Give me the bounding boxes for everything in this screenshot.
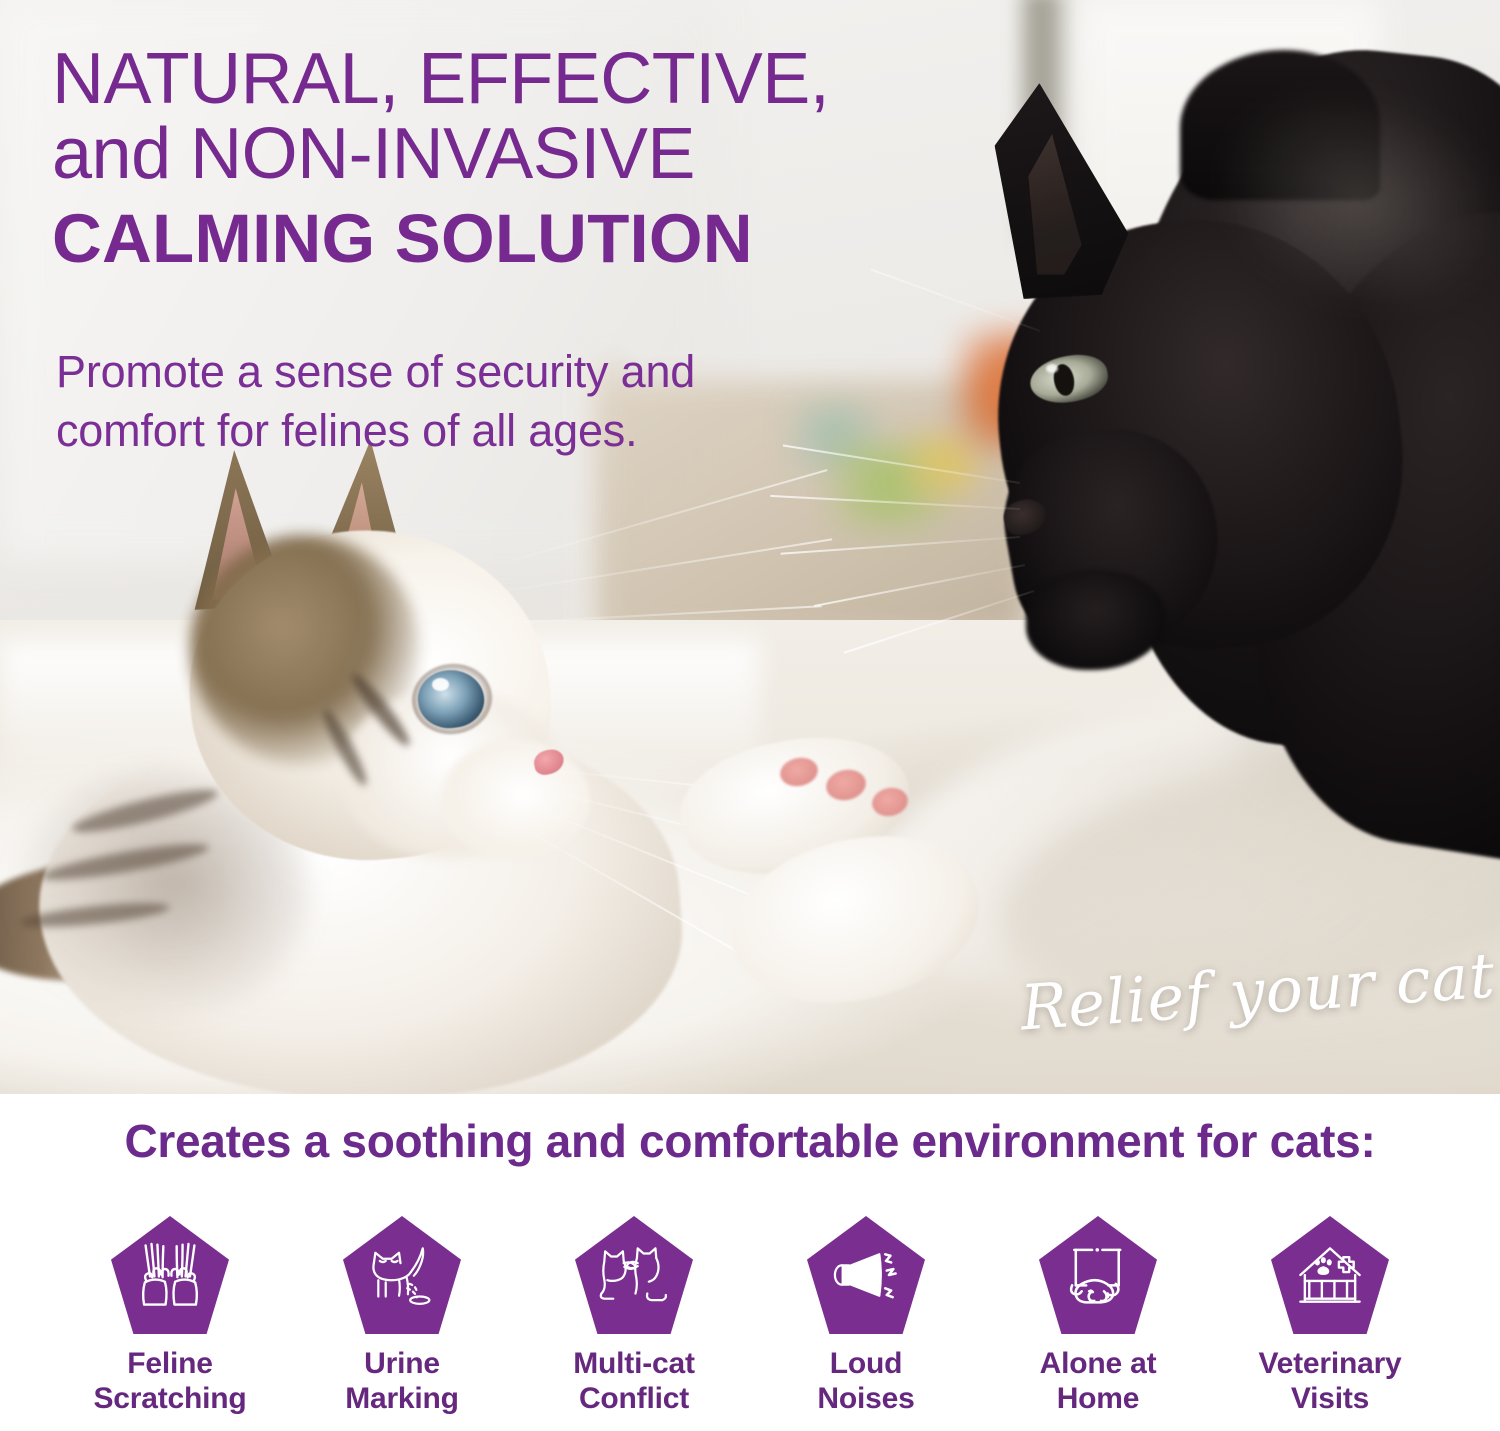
benefit-label: Multi-cat Conflict — [573, 1346, 695, 1416]
tabby-kitten — [40, 440, 940, 1080]
benefit-item-multi-cat-conflict[interactable]: Multi-cat Conflict — [518, 1216, 750, 1416]
veterinary-clinic-icon — [1293, 1238, 1367, 1312]
benefit-label: Alone at Home — [1040, 1346, 1157, 1416]
kitten-brow-whisker — [502, 605, 822, 623]
subcopy-line-2: comfort for felines of all ages. — [56, 401, 956, 460]
benefits-panel: Creates a soothing and comfortable envir… — [0, 1094, 1500, 1431]
subcopy-line-1: Promote a sense of security and — [56, 342, 956, 401]
benefit-item-veterinary-visits[interactable]: Veterinary Visits — [1214, 1216, 1446, 1416]
headline-line-3: CALMING SOLUTION — [52, 200, 982, 277]
black-cat-brow-whisker — [871, 268, 1041, 331]
two-cats-conflict-icon — [597, 1238, 671, 1312]
benefit-item-feline-scratching[interactable]: Feline Scratching — [54, 1216, 286, 1416]
badge-pentagon — [575, 1216, 693, 1334]
kitten-muzzle — [440, 740, 590, 860]
hero-photo-panel: NATURAL, EFFECTIVE, and NON-INVASIVE CAL… — [0, 0, 1500, 1094]
benefits-badge-row: Feline Scratching — [0, 1216, 1500, 1416]
headline-line-2: and NON-INVASIVE — [52, 117, 982, 192]
black-cat-chin — [1026, 570, 1166, 670]
benefit-item-loud-noises[interactable]: Loud Noises — [750, 1216, 982, 1416]
benefits-title: Creates a soothing and comfortable envir… — [0, 1114, 1500, 1168]
black-cat-eye-glint — [1046, 364, 1058, 373]
badge-pentagon — [1271, 1216, 1389, 1334]
benefit-label: Feline Scratching — [93, 1346, 246, 1416]
benefit-label: Veterinary Visits — [1258, 1346, 1401, 1416]
cat-urine-marking-icon — [365, 1238, 439, 1312]
black-cat — [930, 30, 1500, 850]
hero-subcopy: Promote a sense of security and comfort … — [56, 342, 956, 461]
kitten-eye-glint — [432, 678, 449, 691]
megaphone-loud-noise-icon — [829, 1238, 903, 1312]
benefit-item-alone-at-home[interactable]: Alone at Home — [982, 1216, 1214, 1416]
hero-headline: NATURAL, EFFECTIVE, and NON-INVASIVE CAL… — [52, 42, 982, 277]
benefit-label: Loud Noises — [817, 1346, 914, 1416]
cat-alone-window-icon — [1061, 1238, 1135, 1312]
headline-line-1: NATURAL, EFFECTIVE, — [52, 42, 982, 117]
cat-paws-scratching-icon — [133, 1238, 207, 1312]
badge-pentagon — [111, 1216, 229, 1334]
badge-pentagon — [807, 1216, 925, 1334]
benefit-item-urine-marking[interactable]: Urine Marking — [286, 1216, 518, 1416]
badge-pentagon — [343, 1216, 461, 1334]
badge-pentagon — [1039, 1216, 1157, 1334]
benefit-label: Urine Marking — [345, 1346, 459, 1416]
